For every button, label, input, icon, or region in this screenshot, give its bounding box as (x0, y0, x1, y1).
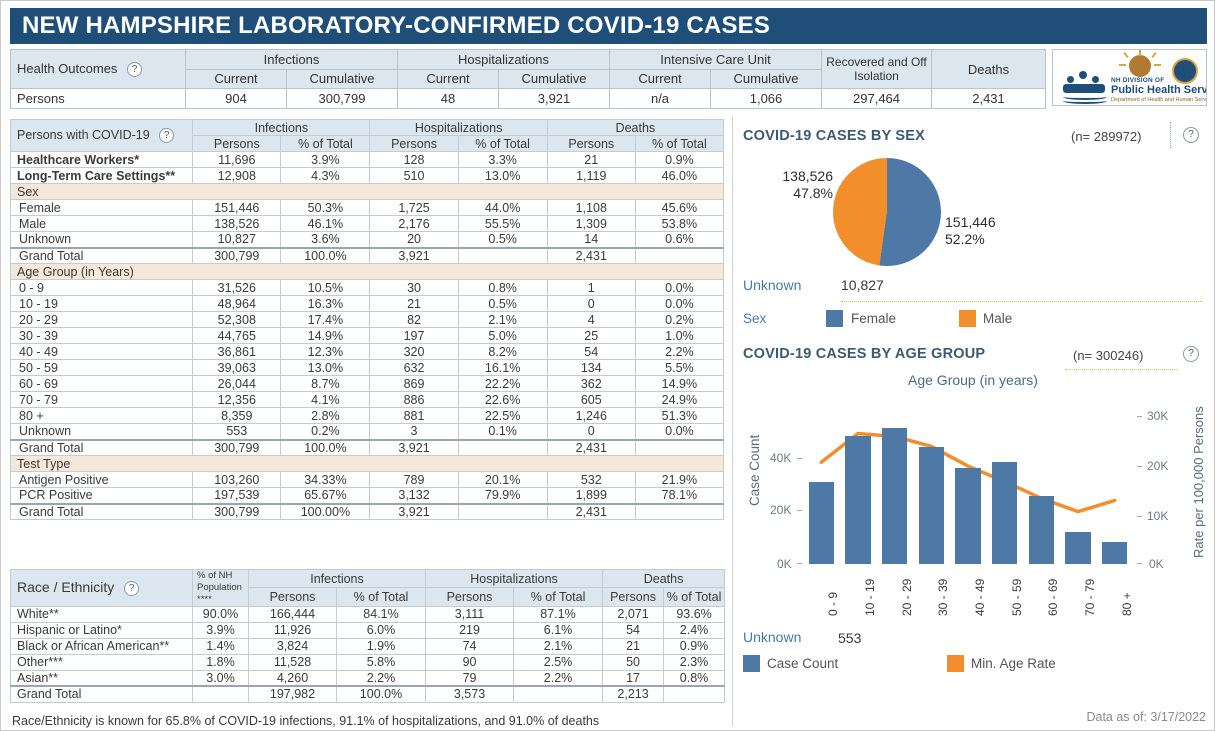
race-ethnicity-table: Race / Ethnicity ? % of NH Population **… (10, 569, 724, 703)
row-label: Other*** (11, 654, 193, 670)
table-cell: 4.1% (281, 392, 370, 408)
table-cell-population-pct: 3.9% (193, 622, 249, 638)
table-cell: 2,431 (547, 440, 635, 456)
xtick-label: 70 - 79 (1083, 579, 1097, 616)
table-cell: 0.5% (458, 232, 547, 248)
table-cell: 12,356 (193, 392, 281, 408)
table-cell: 3,824 (249, 638, 337, 654)
group-header-deaths: Deaths (932, 50, 1046, 89)
row-label: 80 + (11, 408, 193, 424)
sex-unknown-value: 10,827 (841, 277, 884, 293)
table-cell: 1,899 (547, 488, 635, 504)
persons-with-covid-table: Persons with COVID-19 ? Infections Hospi… (10, 119, 724, 520)
pie-label-female-count: 151,446 (945, 214, 1035, 231)
subheader-death-pct: % of Total (635, 136, 723, 152)
row-label: Unknown (11, 424, 193, 440)
table-group-row: Test Type (11, 456, 724, 472)
table-row: PCR Positive197,53965.67%3,13279.9%1,899… (11, 488, 724, 504)
table-cell: 134 (547, 360, 635, 376)
table-cell: 2.8% (281, 408, 370, 424)
table-cell (514, 686, 603, 702)
table-cell: 46.1% (281, 216, 370, 232)
question-mark-icon[interactable]: ? (159, 128, 174, 143)
table-cell: 300,799 (193, 440, 281, 456)
table-cell: 79 (426, 670, 514, 686)
table-cell: 17 (603, 670, 664, 686)
table-cell: 320 (370, 344, 458, 360)
legend-swatch-female[interactable] (826, 310, 843, 327)
table-cell (458, 440, 547, 456)
subheader-hosp-current: Current (398, 69, 499, 89)
row-label: Grand Total (11, 440, 193, 456)
table-cell: 5.5% (635, 360, 723, 376)
table-cell: 197,539 (193, 488, 281, 504)
bar-70-79[interactable] (1065, 532, 1091, 564)
table-cell: 30 (370, 280, 458, 296)
table-cell: 789 (370, 472, 458, 488)
table-cell: 8,359 (193, 408, 281, 424)
table-cell: 197 (370, 328, 458, 344)
table-cell: 44.0% (458, 200, 547, 216)
table-cell: 151,446 (193, 200, 281, 216)
table-cell: 0.6% (635, 232, 723, 248)
logo-line-1: NH DIVISION OF (1111, 77, 1164, 84)
divider (1065, 369, 1177, 370)
table-row: Persons 904 300,799 48 3,921 n/a 1,066 2… (11, 89, 1046, 109)
table-cell: 52,308 (193, 312, 281, 328)
row-label: 60 - 69 (11, 376, 193, 392)
subheader-infections-current: Current (186, 69, 287, 89)
table-cell: 1,119 (547, 168, 635, 184)
row-label: 20 - 29 (11, 312, 193, 328)
row-label: White** (11, 606, 193, 622)
group-header-icu: Intensive Care Unit (610, 50, 822, 70)
ytick-right-0k: 0K (1149, 557, 1164, 571)
table-cell: 87.1% (514, 606, 603, 622)
table-row: Unknown5530.2%30.1%00.0% (11, 424, 724, 440)
table-cell: 21 (370, 296, 458, 312)
cell-infections-current: 904 (186, 89, 287, 109)
tickmark (1137, 466, 1142, 467)
table-row: 80 +8,3592.8%88122.5%1,24651.3% (11, 408, 724, 424)
ytick-right-30k: 30K (1147, 409, 1168, 423)
xtick-label: 40 - 49 (973, 579, 987, 616)
legend-swatch-case-count[interactable] (743, 655, 760, 672)
table-cell: 1,725 (370, 200, 458, 216)
age-chart-title: COVID-19 CASES BY AGE GROUP (743, 346, 985, 362)
sun-ray-icon (1151, 52, 1156, 58)
table-row: 70 - 7912,3564.1%88622.6%60524.9% (11, 392, 724, 408)
row-label: Healthcare Workers* (11, 152, 193, 168)
legend-label-female[interactable]: Female (851, 311, 896, 326)
table-row: Other***1.8%11,5285.8%902.5%502.3% (11, 654, 725, 670)
persons-table-title: Persons with COVID-19 (17, 128, 150, 142)
table-cell: 53.8% (635, 216, 723, 232)
race-table-title: Race / Ethnicity (17, 579, 114, 595)
table-cell: 219 (426, 622, 514, 638)
table-cell: 2,431 (547, 248, 635, 264)
table-cell (635, 248, 723, 264)
table-cell-population-pct (193, 686, 249, 702)
tickmark (1137, 563, 1142, 564)
table-cell: 869 (370, 376, 458, 392)
table-row: Healthcare Workers*11,6963.9%1283.3%210.… (11, 152, 724, 168)
xtick-label: 30 - 39 (936, 579, 950, 616)
question-mark-icon[interactable]: ? (124, 581, 139, 596)
table-cell: 2.3% (664, 654, 725, 670)
table-cell: 128 (370, 152, 458, 168)
table-row: Unknown10,8273.6%200.5%140.6% (11, 232, 724, 248)
table-row: 50 - 5939,06313.0%63216.1%1345.5% (11, 360, 724, 376)
table-cell: 82 (370, 312, 458, 328)
table-cell: 3,921 (370, 440, 458, 456)
table-cell: 0.5% (458, 296, 547, 312)
table-cell: 100.0% (281, 440, 370, 456)
sun-icon (1129, 55, 1151, 77)
table-cell: 2.4% (664, 622, 725, 638)
people-body-icon (1063, 84, 1105, 93)
table-cell: 2,176 (370, 216, 458, 232)
tickmark (1137, 516, 1142, 517)
table-row: 20 - 2952,30817.4%822.1%40.2% (11, 312, 724, 328)
row-label: 30 - 39 (11, 328, 193, 344)
table-cell: 44,765 (193, 328, 281, 344)
table-cell-population-pct: 1.8% (193, 654, 249, 670)
table-row: Antigen Positive103,26034.33%78920.1%532… (11, 472, 724, 488)
table-cell: 20 (370, 232, 458, 248)
ytick-right-10k: 10K (1147, 509, 1168, 523)
table-cell: 21.9% (635, 472, 723, 488)
table-cell: 13.0% (281, 360, 370, 376)
table-cell: 3.6% (281, 232, 370, 248)
sex-pie-chart[interactable] (833, 158, 941, 266)
sun-ray-icon (1123, 52, 1128, 58)
race-table-corner: Race / Ethnicity ? (11, 570, 193, 607)
table-cell: 11,926 (249, 622, 337, 638)
age-chart-n: (n= 300246) (1073, 348, 1143, 363)
sun-ray-icon (1119, 64, 1126, 66)
table-cell: 2.5% (514, 654, 603, 670)
table-cell: 166,444 (249, 606, 337, 622)
row-label: Grand Total (11, 248, 193, 264)
table-cell: 51.3% (635, 408, 723, 424)
table-cell: 2.2% (635, 344, 723, 360)
sex-legend-title: Sex (743, 311, 766, 326)
divider (1170, 122, 1171, 148)
group-header-hospitalizations: Hospitalizations (426, 570, 603, 588)
bar-60-69[interactable] (1029, 496, 1055, 564)
table-row: White**90.0%166,44484.1%3,11187.1%2,0719… (11, 606, 725, 622)
table-cell: 14 (547, 232, 635, 248)
table-cell: 103,260 (193, 472, 281, 488)
persons-table-corner: Persons with COVID-19 ? (11, 120, 193, 152)
row-label: Asian** (11, 670, 193, 686)
table-cell: 532 (547, 472, 635, 488)
y-axis-label-left: Case Count (747, 435, 762, 506)
group-header-infections: Infections (249, 570, 426, 588)
row-label: Male (11, 216, 193, 232)
table-cell: 1.9% (337, 638, 426, 654)
subheader-hosp-persons: Persons (426, 588, 514, 606)
xtick-label: 80 + (1120, 592, 1134, 616)
table-cell: 1 (547, 280, 635, 296)
table-cell: 11,696 (193, 152, 281, 168)
table-cell: 22.6% (458, 392, 547, 408)
table-cell: 25 (547, 328, 635, 344)
table-row: 30 - 3944,76514.9%1975.0%251.0% (11, 328, 724, 344)
pie-label-female: 151,446 52.2% (945, 214, 1035, 248)
row-label: PCR Positive (11, 488, 193, 504)
table-cell: 5.8% (337, 654, 426, 670)
table-cell: 22.5% (458, 408, 547, 424)
table-cell: 605 (547, 392, 635, 408)
group-section-label: Sex (11, 184, 724, 200)
row-label: Antigen Positive (11, 472, 193, 488)
table-cell: 2,431 (547, 504, 635, 520)
table-cell: 21 (547, 152, 635, 168)
question-mark-icon[interactable]: ? (127, 62, 142, 77)
table-cell-population-pct: 1.4% (193, 638, 249, 654)
table-cell: 3,921 (370, 248, 458, 264)
table-cell: 78.1% (635, 488, 723, 504)
question-mark-icon[interactable]: ? (1183, 346, 1199, 362)
race-ethnicity-footnote: Race/Ethnicity is known for 65.8% of COV… (12, 714, 599, 728)
charts-panel: COVID-19 CASES BY SEX (n= 289972) ? 138,… (732, 116, 1210, 726)
row-label: Hispanic or Latino* (11, 622, 193, 638)
cell-deaths: 2,431 (932, 89, 1046, 109)
legend-label-male[interactable]: Male (983, 311, 1012, 326)
table-cell: 1,246 (547, 408, 635, 424)
group-header-hospitalizations: Hospitalizations (370, 120, 547, 136)
nh-state-seal-icon (1172, 58, 1198, 84)
bar-30-39[interactable] (919, 447, 945, 564)
table-cell: 8.7% (281, 376, 370, 392)
table-cell: 39,063 (193, 360, 281, 376)
bar-10-19[interactable] (845, 436, 871, 564)
table-cell: 8.2% (458, 344, 547, 360)
table-cell: 34.33% (281, 472, 370, 488)
table-cell: 55.5% (458, 216, 547, 232)
table-cell (635, 504, 723, 520)
table-row: Long-Term Care Settings**12,9084.3%51013… (11, 168, 724, 184)
subheader-inf-pct: % of Total (337, 588, 426, 606)
table-cell: 54 (603, 622, 664, 638)
table-cell: 93.6% (664, 606, 725, 622)
subheader-icu-current: Current (610, 69, 711, 89)
table-cell: 20.1% (458, 472, 547, 488)
table-cell: 100.00% (281, 504, 370, 520)
table-cell: 2.2% (514, 670, 603, 686)
logo-line-3: Department of Health and Human Services (1111, 97, 1207, 103)
table-cell: 24.9% (635, 392, 723, 408)
row-label-persons: Persons (11, 89, 186, 109)
legend-label-min-age-rate[interactable]: Min. Age Rate (971, 656, 1056, 671)
age-unknown-label: Unknown (743, 629, 801, 645)
bar-40-49[interactable] (955, 468, 981, 564)
table-cell: 553 (193, 424, 281, 440)
table-cell: 138,526 (193, 216, 281, 232)
table-cell: 46.0% (635, 168, 723, 184)
table-row: Black or African American**1.4%3,8241.9%… (11, 638, 725, 654)
table-cell: 26,044 (193, 376, 281, 392)
data-as-of-label: Data as of: 3/17/2022 (1086, 710, 1206, 724)
table-cell: 21 (603, 638, 664, 654)
ytick-right-20k: 20K (1147, 459, 1168, 473)
subheader-infections-cumulative: Cumulative (287, 69, 398, 89)
group-header-infections: Infections (186, 50, 398, 70)
xtick-label: 50 - 59 (1010, 579, 1024, 616)
table-row: Female151,44650.3%1,72544.0%1,10845.6% (11, 200, 724, 216)
table-cell: 5.0% (458, 328, 547, 344)
table-row: 10 - 1948,96416.3%210.5%00.0% (11, 296, 724, 312)
people-icon (1079, 71, 1087, 79)
table-cell: 4.3% (281, 168, 370, 184)
table-cell: 3 (370, 424, 458, 440)
table-cell (635, 440, 723, 456)
table-cell: 0 (547, 424, 635, 440)
subheader-inf-pct: % of Total (281, 136, 370, 152)
bar-0-9[interactable] (809, 482, 835, 564)
health-outcomes-title: Health Outcomes (17, 61, 117, 76)
table-cell: 50.3% (281, 200, 370, 216)
table-cell: 13.0% (458, 168, 547, 184)
legend-swatch-male[interactable] (959, 310, 976, 327)
table-cell (458, 248, 547, 264)
bar-50-59[interactable] (992, 462, 1018, 564)
row-label: 0 - 9 (11, 280, 193, 296)
table-cell: 0.8% (664, 670, 725, 686)
group-header-deaths: Deaths (547, 120, 723, 136)
ytick-left-0k: 0K (777, 557, 792, 571)
table-cell: 16.1% (458, 360, 547, 376)
row-label: Unknown (11, 232, 193, 248)
table-group-row: Age Group (in Years) (11, 264, 724, 280)
table-cell: 0.2% (281, 424, 370, 440)
table-cell: 0.8% (458, 280, 547, 296)
group-section-label: Age Group (in Years) (11, 264, 724, 280)
cell-recovered: 297,464 (822, 89, 932, 109)
table-row: Hispanic or Latino*3.9%11,9266.0%2196.1%… (11, 622, 725, 638)
sun-ray-icon (1139, 50, 1141, 56)
sun-ray-icon (1154, 64, 1161, 66)
table-cell: 0.0% (635, 424, 723, 440)
table-row: Male138,52646.1%2,17655.5%1,30953.8% (11, 216, 724, 232)
table-cell: 3,132 (370, 488, 458, 504)
table-row: Grand Total197,982100.0%3,5732,213 (11, 686, 725, 702)
table-cell: 3,573 (426, 686, 514, 702)
table-cell: 1,108 (547, 200, 635, 216)
table-row: 60 - 6926,0448.7%86922.2%36214.9% (11, 376, 724, 392)
table-cell: 74 (426, 638, 514, 654)
tickmark (797, 563, 802, 564)
table-cell: 100.0% (281, 248, 370, 264)
table-cell: 4 (547, 312, 635, 328)
table-cell: 3.3% (458, 152, 547, 168)
table-cell: 2,071 (603, 606, 664, 622)
table-cell: 10.5% (281, 280, 370, 296)
header-pct-nh-population: % of NH Population **** (193, 570, 249, 607)
cell-icu-cumulative: 1,066 (711, 89, 822, 109)
table-cell: 0.0% (635, 280, 723, 296)
table-cell: 12,908 (193, 168, 281, 184)
ytick-left-40k: 40K (770, 451, 791, 465)
table-cell: 48,964 (193, 296, 281, 312)
age-axis-title: Age Group (in years) (908, 372, 1038, 388)
health-outcomes-label: Health Outcomes ? (11, 50, 186, 89)
subheader-hosp-persons: Persons (370, 136, 458, 152)
table-cell: 3,921 (370, 504, 458, 520)
people-icon (1067, 76, 1074, 83)
group-header-infections: Infections (193, 120, 370, 136)
cell-infections-cumulative: 300,799 (287, 89, 398, 109)
table-cell: 881 (370, 408, 458, 424)
table-cell: 31,526 (193, 280, 281, 296)
subheader-icu-cumulative: Cumulative (711, 69, 822, 89)
row-label: Black or African American** (11, 638, 193, 654)
table-row: Asian**3.0%4,2602.2%792.2%170.8% (11, 670, 725, 686)
table-cell: 36,861 (193, 344, 281, 360)
logo-line-2: Public Health Services (1111, 84, 1207, 96)
dashboard-page: NEW HAMPSHIRE LABORATORY-CONFIRMED COVID… (0, 0, 1215, 731)
question-mark-icon[interactable]: ? (1183, 127, 1199, 143)
table-cell: 54 (547, 344, 635, 360)
table-cell: 22.2% (458, 376, 547, 392)
cell-hosp-current: 48 (398, 89, 499, 109)
pie-label-female-pct: 52.2% (945, 231, 1035, 248)
cell-hosp-cumulative: 3,921 (499, 89, 610, 109)
group-header-hospitalizations: Hospitalizations (398, 50, 610, 70)
table-cell-population-pct: 90.0% (193, 606, 249, 622)
bar-80+[interactable] (1102, 542, 1128, 564)
table-cell: 45.6% (635, 200, 723, 216)
row-label: 40 - 49 (11, 344, 193, 360)
table-cell: 1.0% (635, 328, 723, 344)
tickmark (1137, 416, 1142, 417)
tickmark (797, 510, 802, 511)
subheader-hosp-cumulative: Cumulative (499, 69, 610, 89)
subheader-inf-persons: Persons (249, 588, 337, 606)
water-wave-icon (1063, 98, 1107, 104)
table-cell-population-pct: 3.0% (193, 670, 249, 686)
table-cell: 50 (603, 654, 664, 670)
table-cell: 6.1% (514, 622, 603, 638)
table-row: Grand Total300,799100.0%3,9212,431 (11, 248, 724, 264)
xtick-label: 0 - 9 (826, 592, 840, 616)
table-cell: 197,982 (249, 686, 337, 702)
legend-swatch-min-age-rate[interactable] (947, 655, 964, 672)
table-cell: 300,799 (193, 504, 281, 520)
ytick-left-20k: 20K (770, 503, 791, 517)
group-header-recovered: Recovered and Off Isolation (822, 50, 932, 89)
row-label: 50 - 59 (11, 360, 193, 376)
sex-chart-title: COVID-19 CASES BY SEX (743, 128, 925, 144)
legend-label-case-count[interactable]: Case Count (767, 656, 838, 671)
table-cell: 2.1% (458, 312, 547, 328)
table-cell: 65.67% (281, 488, 370, 504)
subheader-hosp-pct: % of Total (458, 136, 547, 152)
tickmark (797, 458, 802, 459)
subheader-death-pct: % of Total (664, 588, 725, 606)
table-cell (664, 686, 725, 702)
subheader-inf-persons: Persons (193, 136, 281, 152)
table-row: 40 - 4936,86112.3%3208.2%542.2% (11, 344, 724, 360)
divider (841, 301, 1203, 302)
row-label: Long-Term Care Settings** (11, 168, 193, 184)
bar-20-29[interactable] (882, 428, 908, 564)
table-cell: 90 (426, 654, 514, 670)
table-cell: 1,309 (547, 216, 635, 232)
cell-icu-current: n/a (610, 89, 711, 109)
